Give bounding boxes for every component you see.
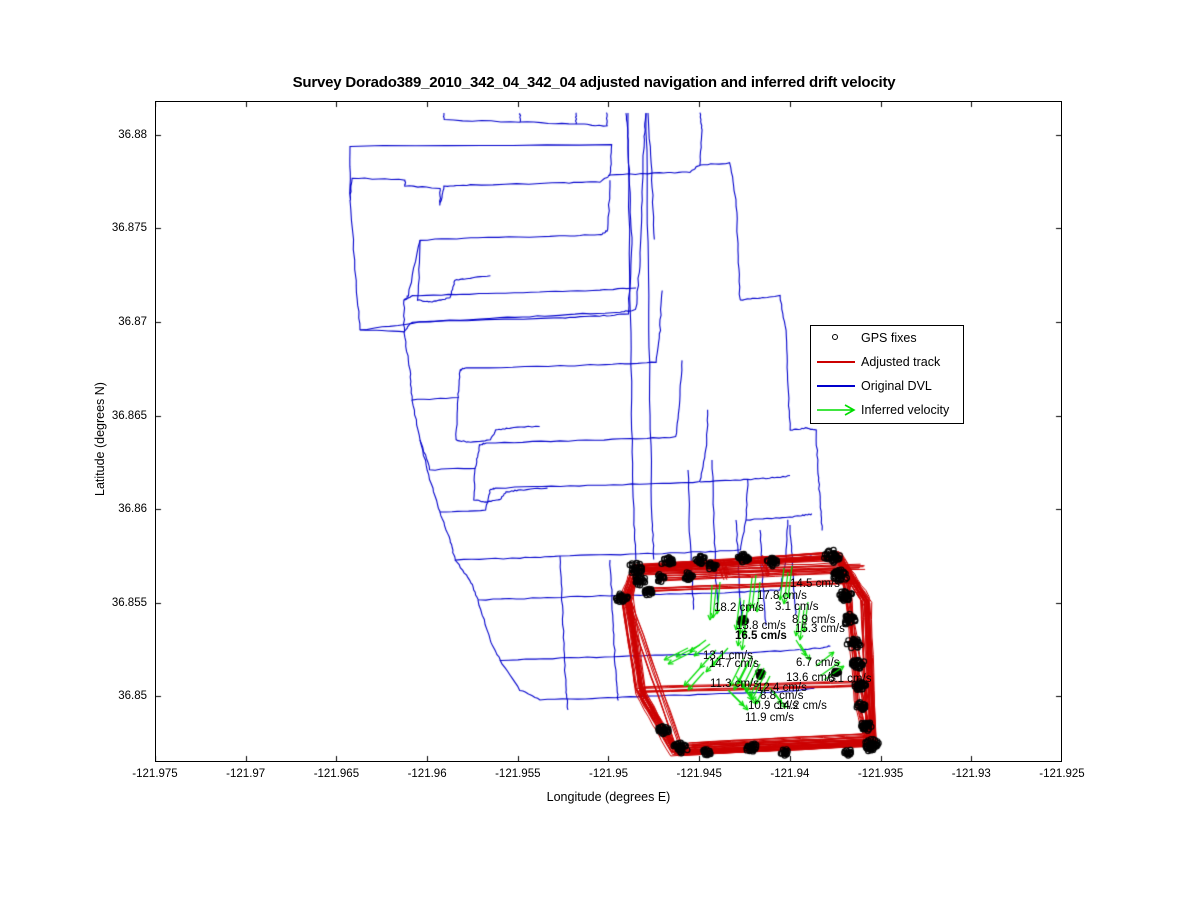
x-tick-label: -121.945 bbox=[676, 768, 721, 780]
y-axis-label: Latitude (degrees N) bbox=[93, 329, 107, 549]
x-tick-label: -121.94 bbox=[770, 768, 809, 780]
legend-item-label: GPS fixes bbox=[861, 331, 917, 345]
velocity-label: 18.2 cm/s bbox=[714, 602, 764, 614]
velocity-label: 15.3 cm/s bbox=[795, 623, 845, 635]
legend-item-gps-fixes[interactable]: GPS fixes bbox=[811, 326, 963, 350]
x-tick-label: -121.95 bbox=[589, 768, 628, 780]
legend-item-inferred-velocity[interactable]: Inferred velocity bbox=[811, 398, 963, 422]
velocity-label: 14.7 cm/s bbox=[709, 658, 759, 670]
y-tick-label: 36.88 bbox=[95, 129, 147, 141]
x-tick-label: -121.93 bbox=[952, 768, 991, 780]
x-tick-label: -121.96 bbox=[408, 768, 447, 780]
y-tick-label: 36.85 bbox=[95, 690, 147, 702]
y-tick-label: 36.87 bbox=[95, 316, 147, 328]
legend-line-swatch bbox=[817, 385, 855, 387]
plot-axes[interactable] bbox=[155, 101, 1062, 762]
velocity-label: 16.5 cm/s bbox=[735, 630, 787, 642]
x-tick-label: -121.935 bbox=[858, 768, 903, 780]
page-title: Survey Dorado389_2010_342_04_342_04 adju… bbox=[0, 74, 1188, 91]
velocity-label: 14.5 cm/s bbox=[790, 578, 840, 590]
legend-item-label: Adjusted track bbox=[861, 355, 940, 369]
velocity-arrow-icon bbox=[811, 398, 861, 422]
plot-drawing-area[interactable] bbox=[155, 101, 1062, 762]
x-axis-label: Longitude (degrees E) bbox=[155, 790, 1062, 804]
velocity-label: 3.1 cm/s bbox=[775, 601, 818, 613]
velocity-label: 14.2 cm/s bbox=[777, 700, 827, 712]
velocity-label: 6.7 cm/s bbox=[796, 657, 839, 669]
figure-canvas: Survey Dorado389_2010_342_04_342_04 adju… bbox=[0, 0, 1188, 900]
legend-item-label: Original DVL bbox=[861, 379, 932, 393]
x-tick-label: -121.925 bbox=[1039, 768, 1084, 780]
gps-fix-marker-icon bbox=[832, 334, 838, 340]
legend[interactable]: GPS fixesAdjusted trackOriginal DVLInfer… bbox=[810, 325, 964, 424]
legend-item-original-dvl[interactable]: Original DVL bbox=[811, 374, 963, 398]
y-tick-label: 36.855 bbox=[95, 597, 147, 609]
legend-line-swatch bbox=[817, 361, 855, 363]
velocity-label: 11.3 cm/s bbox=[710, 678, 759, 690]
y-tick-label: 36.875 bbox=[95, 222, 147, 234]
legend-item-adjusted-track[interactable]: Adjusted track bbox=[811, 350, 963, 374]
velocity-label: 11.9 cm/s bbox=[745, 712, 794, 724]
velocity-label: 6.1 cm/s bbox=[828, 673, 871, 685]
x-tick-label: -121.965 bbox=[314, 768, 359, 780]
legend-item-label: Inferred velocity bbox=[861, 403, 949, 417]
x-tick-label: -121.955 bbox=[495, 768, 540, 780]
x-tick-label: -121.97 bbox=[226, 768, 265, 780]
x-tick-label: -121.975 bbox=[132, 768, 177, 780]
